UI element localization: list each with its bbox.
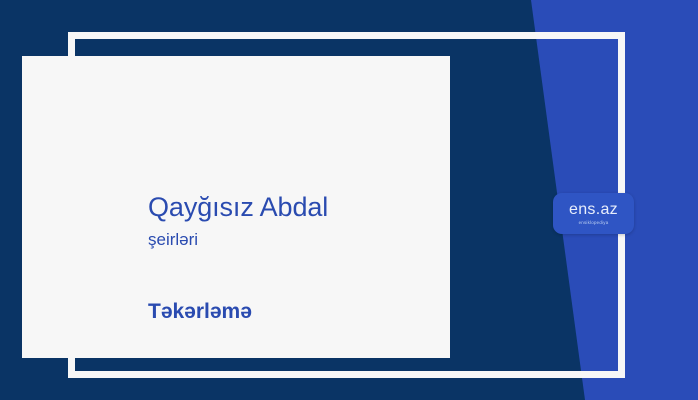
category-label: şeirləri — [148, 230, 458, 250]
poem-card-banner: Qayğısız Abdal şeirləri Təkərləmə ens.az… — [0, 0, 698, 400]
logo-wordmark: ens.az — [569, 202, 618, 218]
logo-tagline: ensiklopediya — [579, 221, 609, 225]
author-name: Qayğısız Abdal — [148, 192, 458, 222]
text-block: Qayğısız Abdal şeirləri Təkərləmə — [148, 192, 458, 324]
content-card: Qayğısız Abdal şeirləri Təkərləmə — [22, 56, 450, 358]
poem-title: Təkərləmə — [148, 299, 458, 324]
ens-az-logo-badge[interactable]: ens.az ensiklopediya — [553, 193, 634, 234]
